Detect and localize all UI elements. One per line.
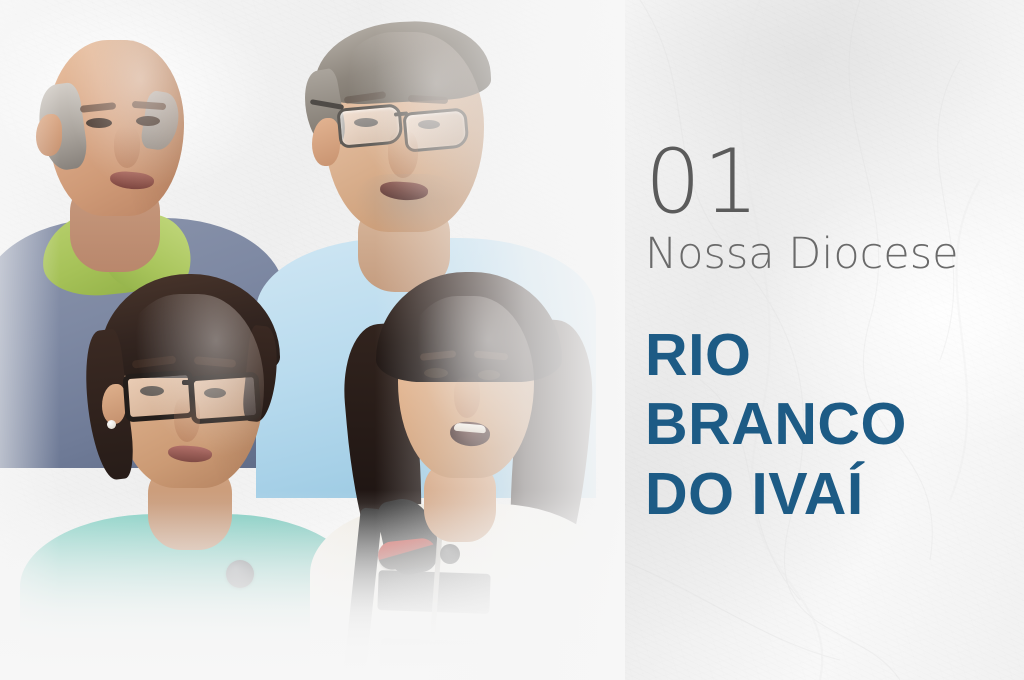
section-subtitle: Nossa Diocese [645, 232, 1005, 277]
face-shading [324, 32, 484, 232]
photo-person-woman-with-glasses [52, 268, 352, 680]
photo-collage [0, 0, 625, 680]
city-name-line-2: BRANCO [645, 390, 1005, 460]
section-number: 01 [645, 140, 1005, 224]
face-shading [398, 296, 534, 478]
face-shading [48, 40, 184, 216]
diocese-banner-card: 01 Nossa Diocese RIO BRANCO DO IVAÍ [0, 0, 1024, 680]
face-shading [114, 294, 264, 488]
title-text-block: 01 Nossa Diocese RIO BRANCO DO IVAÍ [645, 140, 1005, 530]
city-name-line-3: DO IVAÍ [645, 460, 1005, 530]
city-name-line-1: RIO [645, 321, 1005, 391]
jacket-stripe-lower [379, 638, 496, 676]
jacket-snap-button [440, 544, 460, 564]
city-name: RIO BRANCO DO IVAÍ [645, 321, 1005, 530]
earring [107, 420, 116, 429]
photo-person-young-woman [316, 272, 616, 680]
lapel-microphone [226, 560, 254, 588]
